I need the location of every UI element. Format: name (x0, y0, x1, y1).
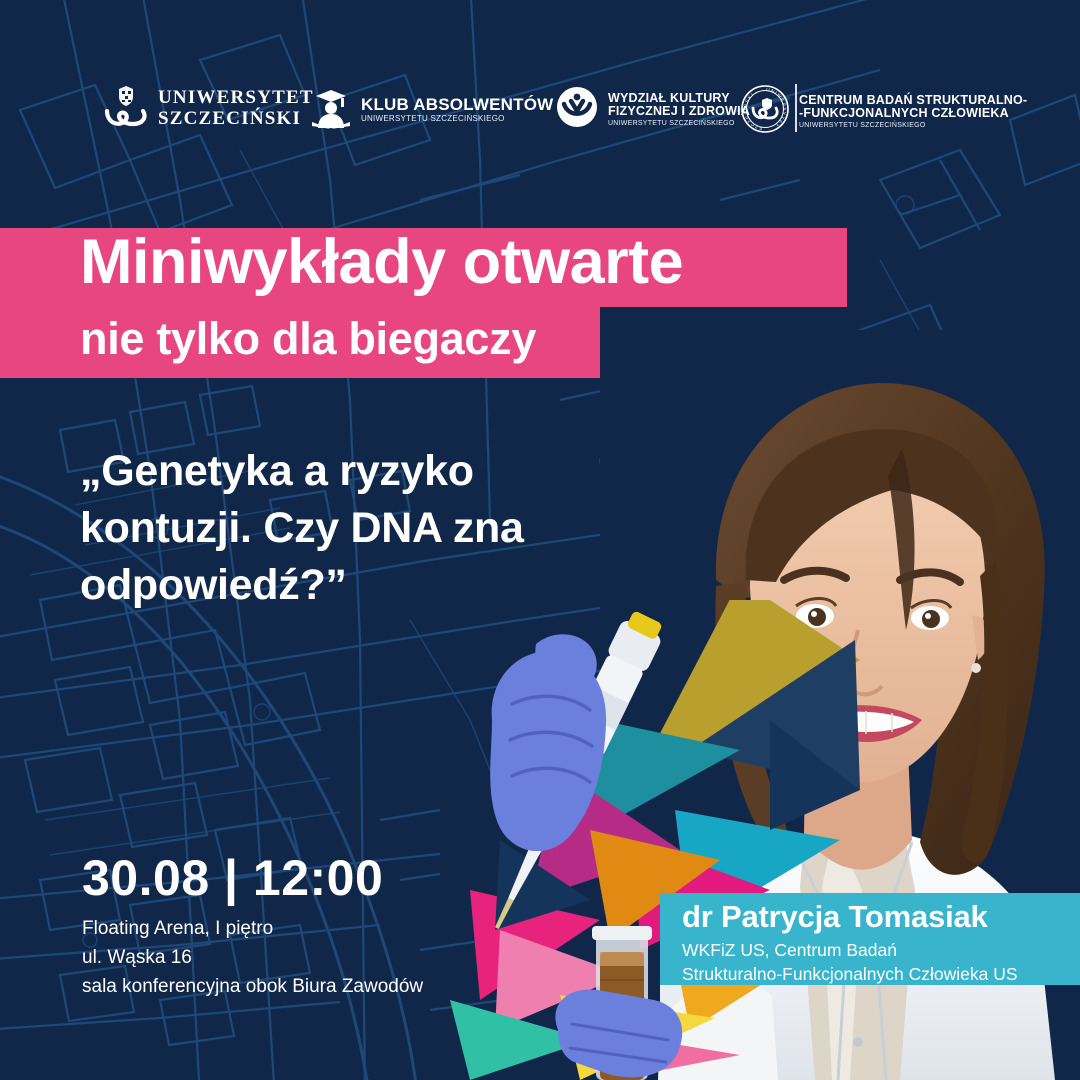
logo-subline: UNIWERSYTETU SZCZECIŃSKIEGO (608, 120, 750, 128)
logo-line-2: FIZYCZNEJ I ZDROWIA (608, 105, 750, 119)
logo-line-1: WYDZIAŁ KULTURY (608, 92, 750, 106)
logo-text: KLUB ABSOLWENTÓW UNIWERSYTETU SZCZECIŃSK… (361, 96, 553, 124)
speaker-name: dr Patrycja Tomasiak (682, 901, 988, 932)
lecture-title: „Genetyka a ryzyko kontuzji. Czy DNA zna… (80, 443, 550, 615)
graduate-figure-icon (310, 85, 352, 134)
speaker-info-box: dr Patrycja Tomasiak WKFiZ US, Centrum B… (660, 893, 1080, 985)
logo-uniwersytet-szczecinski: UNIWERSYTET SZCZECIŃSKI (103, 83, 314, 134)
logo-text: UNIWERSYTET SZCZECIŃSKI (158, 88, 314, 129)
speaker-affiliation-line-1: WKFiZ US, Centrum Badań (682, 939, 1077, 963)
speaker-affiliation-line-2: Strukturalno-Funkcjonalnych Człowieka US (682, 963, 1077, 987)
logo-line-1: KLUB ABSOLWENTÓW (361, 96, 553, 114)
logo-divider (795, 84, 797, 132)
us-monogram-crest-icon (103, 83, 149, 134)
event-date-time: 30.08 | 12:00 (82, 853, 383, 903)
event-venue: Floating Arena, I piętro ul. Wąska 16 sa… (82, 915, 512, 1002)
logo-subline: UNIWERSYTETU SZCZECIŃSKIEGO (361, 115, 553, 124)
us-round-seal-icon: UNIWERSYTET SZCZECIŃSKI (740, 84, 790, 139)
logo-line-1: UNIWERSYTET (158, 88, 314, 109)
logo-line-2: SZCZECIŃSKI (158, 109, 314, 130)
speaker-affiliation: WKFiZ US, Centrum Badań Strukturalno-Fun… (682, 939, 1077, 986)
logo-line-1: CENTRUM BADAŃ STRUKTURALNO- (799, 94, 1027, 108)
banner-subtitle: nie tylko dla biegaczy (80, 316, 536, 361)
logo-subline: UNIWERSYTETU SZCZECIŃSKIEGO (799, 122, 1027, 130)
logo-text: WYDZIAŁ KULTURY FIZYCZNEJ I ZDROWIA UNIW… (608, 92, 750, 128)
logo-centrum-badan: UNIWERSYTET SZCZECIŃSKI CENTRUM BADAŃ ST… (740, 84, 1027, 139)
logo-text: CENTRUM BADAŃ STRUKTURALNO- -FUNKCJONALN… (799, 94, 1027, 130)
wkfiz-circle-icon (555, 85, 599, 134)
logo-line-2: -FUNKCJONALNYCH CZŁOWIEKA (799, 107, 1027, 121)
logo-bar: UNIWERSYTET SZCZECIŃSKI KLUB ABSOLWENTÓW (0, 78, 1080, 140)
decorative-triangles-and-pipette (440, 600, 860, 1080)
banner-title: Miniwykłady otwarte (80, 231, 683, 294)
venue-line-2: ul. Wąska 16 (82, 944, 512, 973)
venue-line-1: Floating Arena, I piętro (82, 915, 512, 944)
venue-line-3: sala konferencyjna obok Biura Zawodów (82, 973, 512, 1002)
logo-klub-absolwentow: KLUB ABSOLWENTÓW UNIWERSYTETU SZCZECIŃSK… (310, 85, 553, 134)
logo-wkfiz: WYDZIAŁ KULTURY FIZYCZNEJ I ZDROWIA UNIW… (555, 85, 750, 134)
poster-root: UNIWERSYTET SZCZECIŃSKI KLUB ABSOLWENTÓW (0, 0, 1080, 1080)
